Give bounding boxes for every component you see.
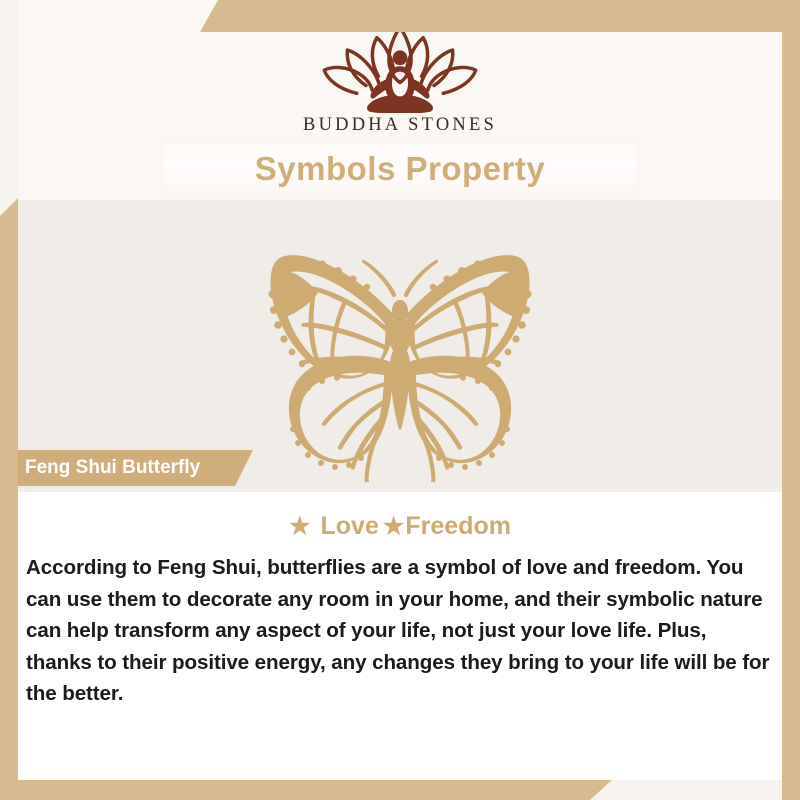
page-title: Symbols Property bbox=[255, 150, 545, 188]
subtitle-row: ★ Love ★ Freedom bbox=[18, 512, 782, 541]
decor-band-bottom bbox=[0, 780, 612, 800]
decor-band-top bbox=[200, 0, 800, 32]
feng-shui-butterfly-tab-label: Feng Shui Butterfly bbox=[25, 457, 200, 479]
star-icon-left: ★ bbox=[289, 515, 311, 539]
description-panel: ★ Love ★ Freedom According to Feng Shui,… bbox=[18, 492, 782, 780]
subtitle-love: Love bbox=[321, 512, 379, 541]
star-icon-middle: ★ bbox=[383, 515, 405, 539]
decor-band-right bbox=[782, 0, 800, 800]
decor-band-left bbox=[0, 198, 18, 800]
feng-shui-butterfly-tab: Feng Shui Butterfly bbox=[0, 450, 253, 486]
brand-logo-block: BUDDHA STONES bbox=[0, 18, 800, 136]
lotus-meditation-figure-icon bbox=[315, 18, 485, 113]
butterfly-icon bbox=[225, 242, 575, 482]
description-paragraph: According to Feng Shui, butterflies are … bbox=[18, 552, 782, 710]
title-banner: Symbols Property bbox=[163, 144, 637, 194]
poster-page: BUDDHA STONES Symbols Property Feng Shui… bbox=[0, 0, 800, 800]
brand-name: BUDDHA STONES bbox=[303, 115, 497, 136]
hero-image-area bbox=[18, 200, 782, 492]
subtitle-freedom: Freedom bbox=[405, 512, 511, 541]
